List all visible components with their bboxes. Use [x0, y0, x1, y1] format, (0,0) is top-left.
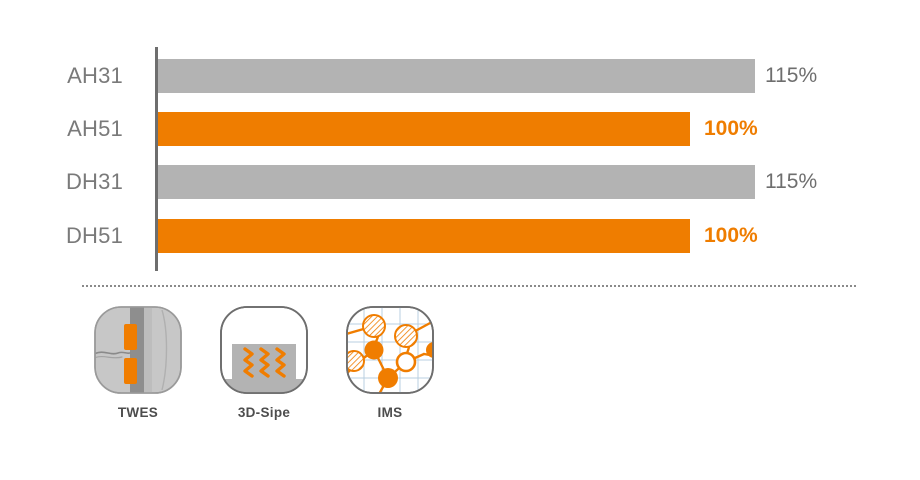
bar-dh31[interactable]	[158, 165, 755, 199]
bar-value-label-3: 100%	[704, 219, 758, 253]
ims-compound-icon	[344, 304, 436, 396]
three-d-sipe-icon	[218, 304, 310, 396]
table-row: DH51 100%	[0, 219, 920, 253]
bar-value-label-1: 100%	[704, 112, 758, 146]
icon-item-3d-sipe[interactable]: 3D-Sipe	[204, 300, 324, 420]
bar-category-label-1: AH51	[0, 112, 139, 146]
table-row: AH31 115%	[0, 59, 920, 93]
bar-category-label-3: DH51	[0, 219, 139, 253]
icon-caption-3d-sipe: 3D-Sipe	[204, 405, 324, 420]
bar-category-label-2: DH31	[0, 165, 139, 199]
bar-value-label-2: 115%	[765, 165, 817, 199]
icon-caption-twes: TWES	[78, 405, 198, 420]
icon-item-twes[interactable]: TWES	[78, 300, 198, 420]
bar-ah31[interactable]	[158, 59, 755, 93]
twes-tread-wear-icon	[92, 304, 184, 396]
icon-caption-ims: IMS	[330, 405, 450, 420]
dotted-divider	[82, 285, 856, 287]
bar-ah51[interactable]	[158, 112, 690, 146]
technology-icon-strip: TWES	[0, 300, 920, 440]
infographic-root: AH31 115% AH51 100% DH31 115% DH51 100%	[0, 0, 920, 480]
bar-category-label-0: AH31	[0, 59, 139, 93]
bar-dh51[interactable]	[158, 219, 690, 253]
bar-chart: AH31 115% AH51 100% DH31 115% DH51 100%	[0, 0, 920, 280]
icon-item-ims[interactable]: IMS	[330, 300, 450, 420]
bar-value-label-0: 115%	[765, 59, 817, 93]
table-row: DH31 115%	[0, 165, 920, 199]
table-row: AH51 100%	[0, 112, 920, 146]
